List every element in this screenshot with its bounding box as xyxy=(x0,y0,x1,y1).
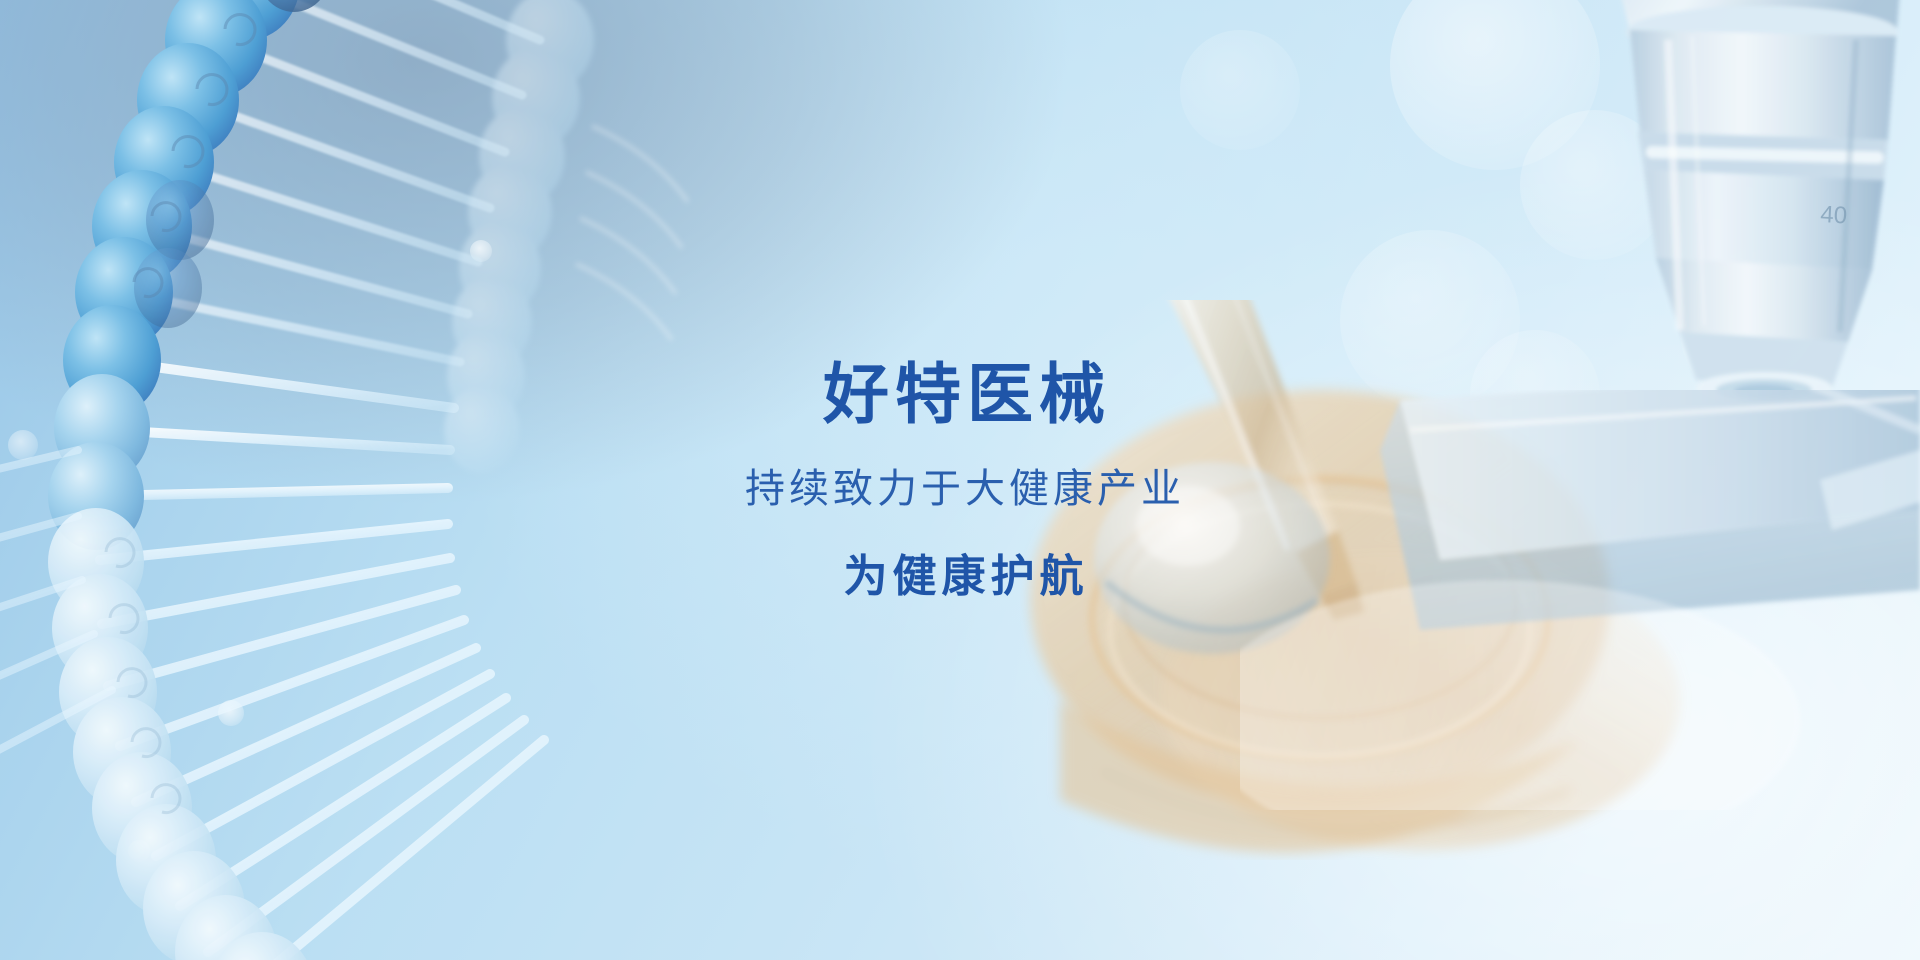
banner-slogan: 为健康护航 xyxy=(844,555,1089,599)
banner-subtitle: 持续致力于大健康产业 xyxy=(745,469,1185,509)
hero-banner: 40 xyxy=(0,0,1920,960)
banner-title: 好特医械 xyxy=(823,361,1111,427)
banner-copy: 好特医械 持续致力于大健康产业 为健康护航 xyxy=(0,0,1920,960)
